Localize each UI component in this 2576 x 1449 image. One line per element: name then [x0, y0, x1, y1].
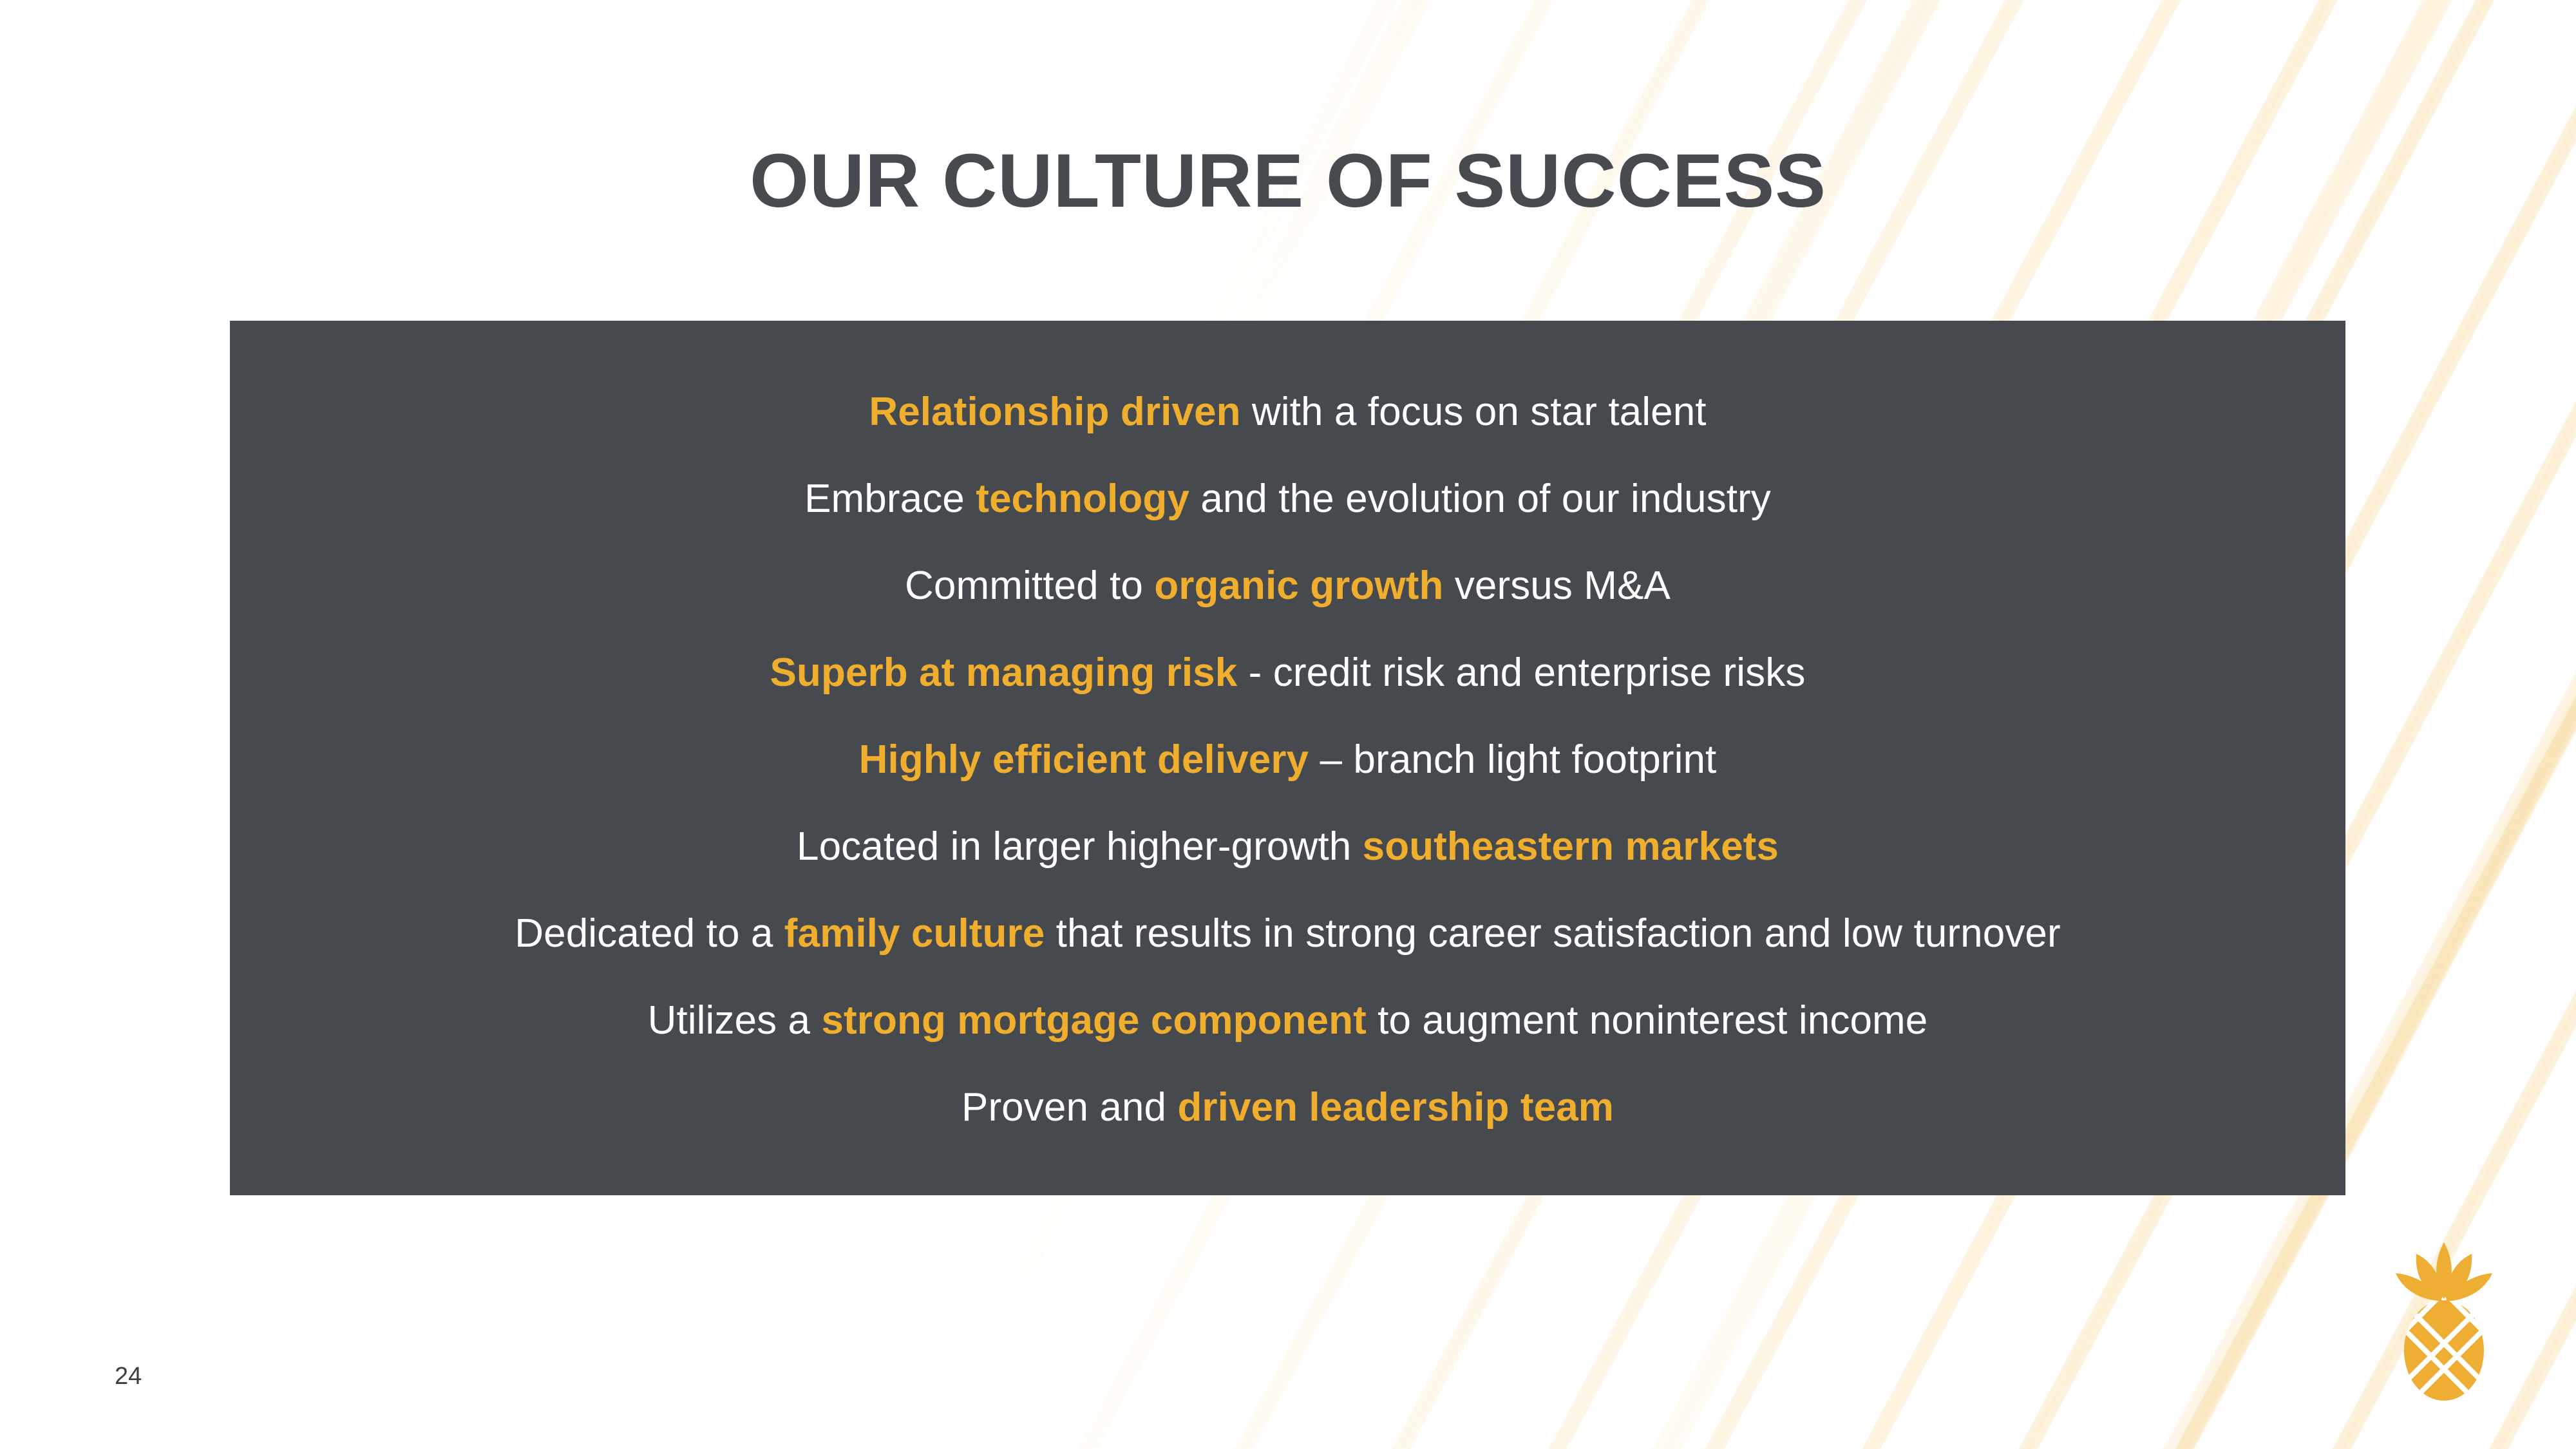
- culture-point-9: Proven and driven leadership team: [961, 1064, 1614, 1151]
- culture-point-7-pre: Dedicated to a: [515, 911, 784, 956]
- culture-point-4: Superb at managing risk - credit risk an…: [770, 629, 1806, 716]
- culture-point-7-post: that results in strong career satisfacti…: [1045, 911, 2060, 956]
- culture-point-1-post: with a focus on star talent: [1241, 390, 1707, 434]
- culture-point-5: Highly efficient delivery – branch light…: [859, 716, 1717, 803]
- culture-point-1-highlight: Relationship driven: [869, 390, 1240, 434]
- culture-point-7-highlight: family culture: [784, 911, 1045, 956]
- culture-point-5-post: – branch light footprint: [1309, 737, 1716, 782]
- slide: OUR CULTURE OF SUCCESS Relationship driv…: [0, 0, 2576, 1449]
- culture-point-4-highlight: Superb at managing risk: [770, 650, 1238, 695]
- culture-point-5-highlight: Highly efficient delivery: [859, 737, 1309, 782]
- culture-point-2-pre: Embrace: [804, 477, 976, 521]
- culture-point-8: Utilizes a strong mortgage component to …: [648, 977, 1928, 1064]
- culture-point-2: Embrace technology and the evolution of …: [804, 455, 1771, 542]
- culture-point-2-highlight: technology: [976, 477, 1189, 521]
- culture-point-6-pre: Located in larger higher-growth: [797, 824, 1363, 869]
- culture-point-8-highlight: strong mortgage component: [821, 998, 1366, 1043]
- culture-point-6: Located in larger higher-growth southeas…: [797, 803, 1779, 890]
- page-title: OUR CULTURE OF SUCCESS: [0, 143, 2576, 219]
- culture-point-3-post: versus M&A: [1443, 563, 1671, 608]
- culture-point-8-post: to augment noninterest income: [1367, 998, 1928, 1043]
- culture-point-8-pre: Utilizes a: [648, 998, 822, 1043]
- culture-point-3: Committed to organic growth versus M&A: [905, 542, 1671, 629]
- culture-point-9-pre: Proven and: [961, 1085, 1177, 1130]
- culture-points-panel: Relationship driven with a focus on star…: [230, 321, 2345, 1195]
- culture-point-9-highlight: driven leadership team: [1177, 1085, 1614, 1130]
- pineapple-logo: [2376, 1240, 2512, 1410]
- culture-point-4-post: - credit risk and enterprise risks: [1237, 650, 1805, 695]
- culture-point-7: Dedicated to a family culture that resul…: [515, 890, 2061, 977]
- culture-point-3-highlight: organic growth: [1154, 563, 1443, 608]
- culture-point-3-pre: Committed to: [905, 563, 1154, 608]
- culture-point-1: Relationship driven with a focus on star…: [869, 368, 1706, 455]
- culture-point-2-post: and the evolution of our industry: [1189, 477, 1771, 521]
- culture-point-6-highlight: southeastern markets: [1363, 824, 1779, 869]
- slide-page-number: 24: [115, 1364, 142, 1388]
